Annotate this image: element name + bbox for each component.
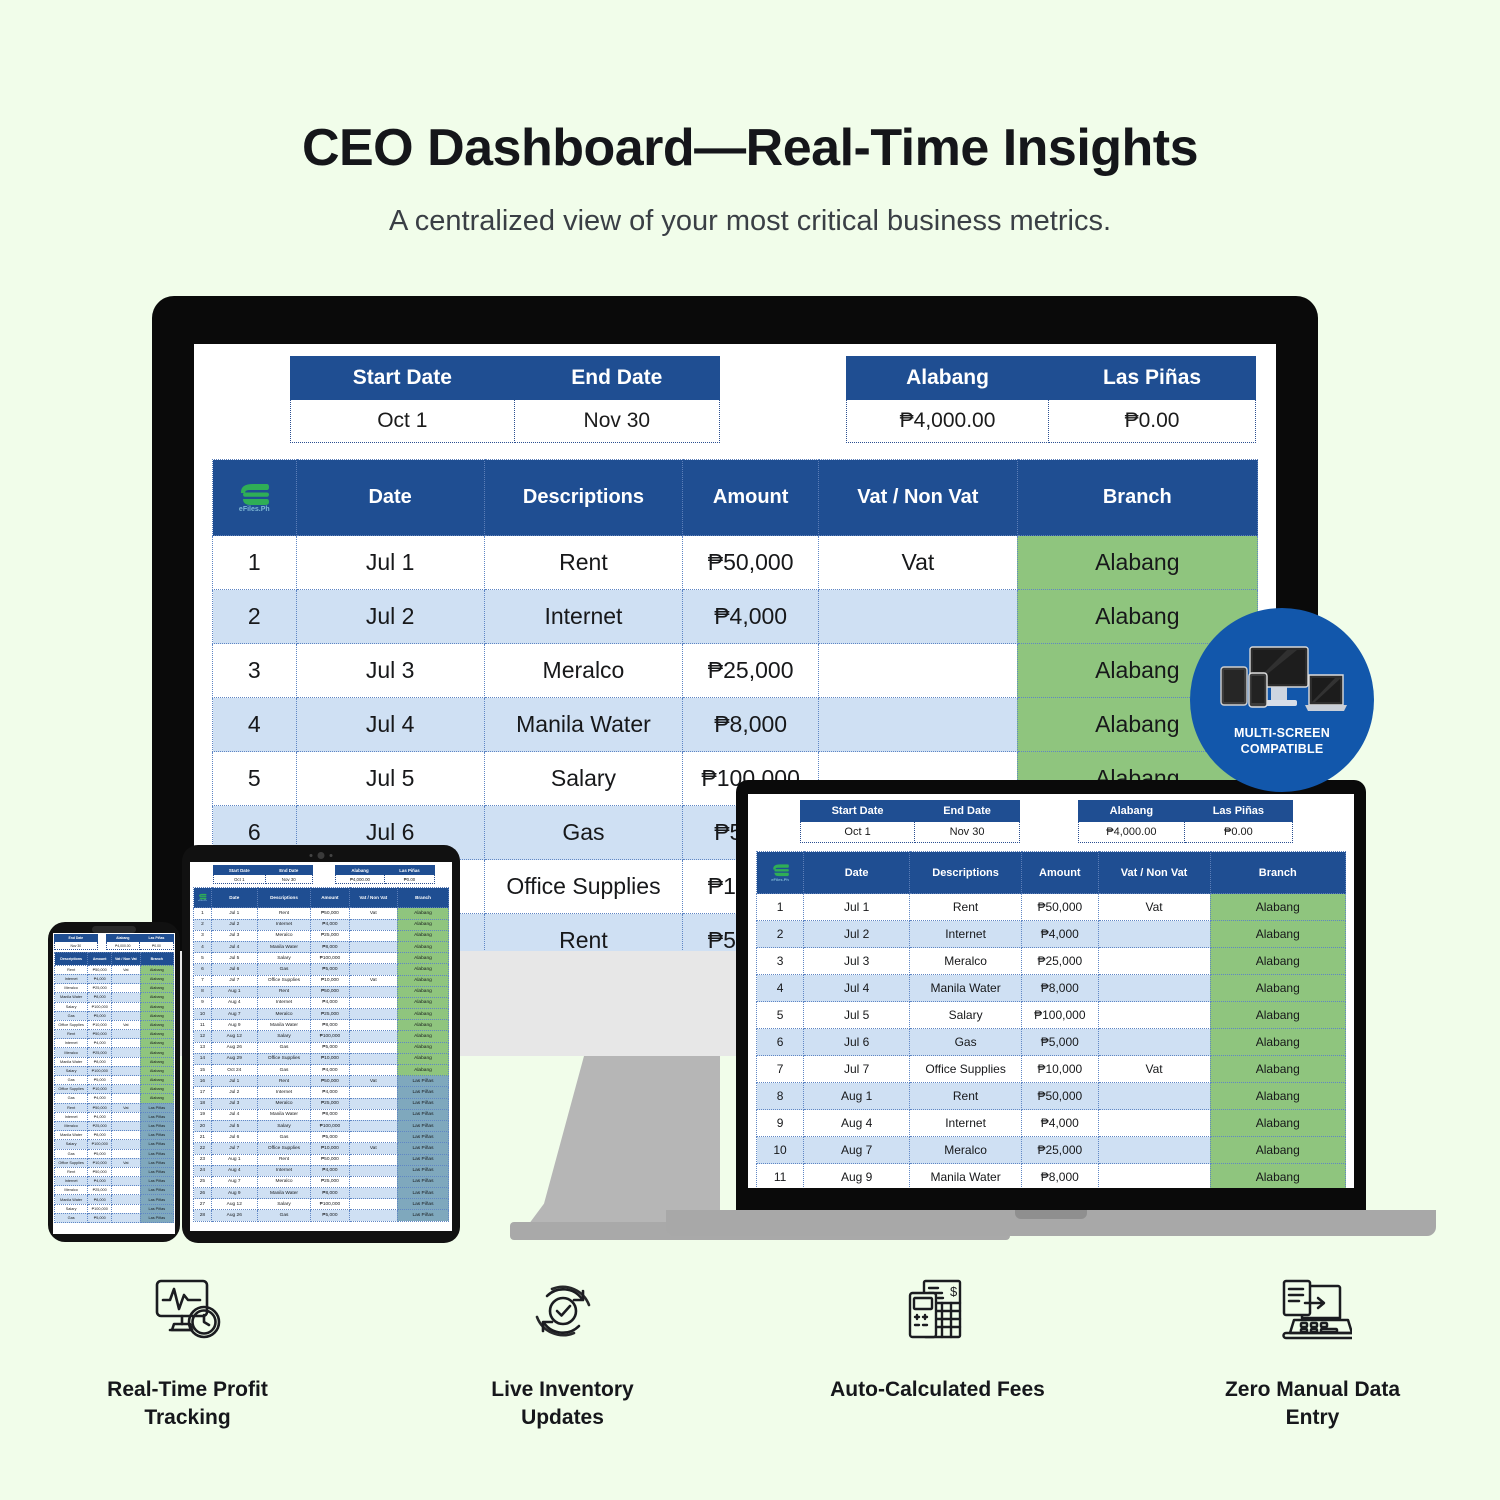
table-row[interactable]: 1Jul 1Rent₱50,000VatAlabang [213,536,1258,590]
cell-desc[interactable]: Meralco [55,1186,88,1195]
laptop-col-descriptions[interactable]: Descriptions [910,852,1022,894]
cell-desc[interactable]: Salary [484,752,683,806]
cell-branch[interactable]: Alabang [397,975,448,986]
cell-branch[interactable]: Alabang [140,1057,173,1066]
cell-vat[interactable] [349,1109,397,1120]
cell-n[interactable]: 11 [194,1020,212,1031]
cell-n[interactable]: 16 [194,1076,212,1087]
table-row[interactable]: Gas₱5,000Las Piñas [55,1213,174,1222]
cell-amount[interactable]: ₱50,000 [311,986,349,997]
table-row[interactable]: Manila Water₱8,000Las Piñas [55,1131,174,1140]
cell-branch[interactable]: Las Piñas [140,1177,173,1186]
cell-desc[interactable]: Meralco [55,984,88,993]
cell-desc[interactable]: Salary [257,953,311,964]
cell-vat[interactable] [112,1057,141,1066]
cell-vat[interactable] [349,1009,397,1020]
cell-n[interactable]: 1 [194,908,212,919]
cell-n[interactable]: 3 [213,644,297,698]
cell-desc[interactable]: Meralco [484,644,683,698]
cell-date[interactable]: Aug 7 [211,1176,257,1187]
cell-branch[interactable]: Alabang [140,993,173,1002]
cell-amount[interactable]: ₱5,000 [311,1042,349,1053]
cell-vat[interactable] [112,1094,141,1103]
cell-vat[interactable] [349,941,397,952]
table-row[interactable]: 17Jul 2Internet₱4,000Las Piñas [194,1087,449,1098]
cell-branch[interactable]: Las Piñas [397,1132,448,1143]
cell-n[interactable]: 4 [194,941,212,952]
table-row[interactable]: 8Aug 1Rent₱50,000Alabang [194,986,449,997]
cell-desc[interactable]: Salary [55,1140,88,1149]
laspinas-total-value[interactable]: ₱0.00 [1049,400,1256,443]
table-row[interactable]: Internet₱4,000Las Piñas [55,1177,174,1186]
cell-branch[interactable]: Alabang [140,965,173,974]
table-row[interactable]: 27Aug 12Salary₱100,000Las Piñas [194,1199,449,1210]
cell-desc[interactable]: Office Supplies [55,1085,88,1094]
cell-amount[interactable]: ₱4,000 [88,974,112,983]
cell-vat[interactable] [349,1210,397,1221]
col-vat[interactable]: Vat / Non Vat [819,460,1018,536]
table-row[interactable]: Rent₱50,000VatAlabang [55,965,174,974]
table-row[interactable]: 24Aug 4Internet₱4,000Las Piñas [194,1165,449,1176]
cell-branch[interactable]: Alabang [397,997,448,1008]
cell-branch[interactable]: Alabang [1210,1002,1346,1029]
table-row[interactable]: Office Supplies₱10,000VatLas Piñas [55,1158,174,1167]
cell-amount[interactable]: ₱4,000 [88,1039,112,1048]
cell-vat[interactable] [112,1112,141,1121]
cell-branch[interactable]: Las Piñas [140,1121,173,1130]
cell-vat[interactable] [1098,975,1210,1002]
cell-desc[interactable]: Office Supplies [257,975,311,986]
cell-desc[interactable]: Rent [257,1154,311,1165]
cell-n[interactable]: 5 [757,1002,804,1029]
cell-amount[interactable]: ₱25,000 [1022,948,1099,975]
cell-n[interactable]: 23 [194,1154,212,1165]
cell-n[interactable]: 17 [194,1087,212,1098]
table-row[interactable]: Salary₱100,000Las Piñas [55,1140,174,1149]
cell-branch[interactable]: Alabang [397,1042,448,1053]
cell-amount[interactable]: ₱8,000 [88,1057,112,1066]
cell-date[interactable]: Aug 4 [211,1165,257,1176]
cell-n[interactable]: 26 [194,1188,212,1199]
cell-n[interactable]: 6 [757,1029,804,1056]
cell-desc[interactable]: Manila Water [484,698,683,752]
tablet-col-vat[interactable]: Vat / Non Vat [349,888,397,908]
cell-amount[interactable]: ₱4,000 [311,1165,349,1176]
cell-n[interactable]: 24 [194,1165,212,1176]
cell-desc[interactable]: Rent [55,1030,88,1039]
table-row[interactable]: 8Aug 1Rent₱50,000Alabang [757,1083,1346,1110]
cell-desc[interactable]: Salary [55,1066,88,1075]
cell-desc[interactable]: Meralco [910,1137,1022,1164]
phone-col-vat[interactable]: Vat / Non Vat [112,952,141,965]
cell-vat[interactable]: Vat [112,1158,141,1167]
cell-branch[interactable]: Las Piñas [140,1213,173,1222]
cell-amount[interactable]: ₱8,000 [1022,1164,1099,1189]
cell-amount[interactable]: ₱25,000 [683,644,819,698]
cell-date[interactable]: Aug 4 [211,997,257,1008]
cell-vat[interactable] [1098,1164,1210,1189]
cell-amount[interactable]: ₱25,000 [88,1048,112,1057]
cell-branch[interactable]: Las Piñas [397,1143,448,1154]
cell-amount[interactable]: ₱25,000 [311,1176,349,1187]
tablet-laspinas-total-value[interactable]: ₱0.00 [384,875,434,884]
cell-amount[interactable]: ₱100,000 [311,1199,349,1210]
cell-vat[interactable] [112,1121,141,1130]
cell-vat[interactable] [349,997,397,1008]
cell-date[interactable]: Jul 4 [804,975,910,1002]
table-row[interactable]: Internet₱4,000Las Piñas [55,1112,174,1121]
laptop-col-branch[interactable]: Branch [1210,852,1346,894]
cell-desc[interactable]: Rent [257,1076,311,1087]
cell-desc[interactable]: Office Supplies [257,1143,311,1154]
cell-desc[interactable]: Gas [257,1132,311,1143]
cell-amount[interactable]: ₱25,000 [88,1186,112,1195]
cell-vat[interactable] [1098,1083,1210,1110]
cell-amount[interactable]: ₱10,000 [311,1143,349,1154]
table-row[interactable]: Office Supplies₱10,000Alabang [55,1085,174,1094]
cell-branch[interactable]: Las Piñas [397,1199,448,1210]
cell-amount[interactable]: ₱4,000 [683,590,819,644]
cell-branch[interactable]: Las Piñas [397,1210,448,1221]
cell-date[interactable]: Jul 5 [211,953,257,964]
table-row[interactable]: Office Supplies₱10,000VatAlabang [55,1020,174,1029]
cell-date[interactable]: Jul 3 [296,644,484,698]
cell-amount[interactable]: ₱50,000 [1022,1083,1099,1110]
cell-amount[interactable]: ₱8,000 [311,941,349,952]
cell-vat[interactable] [349,1098,397,1109]
cell-date[interactable]: Jul 3 [804,948,910,975]
cell-vat[interactable] [112,1149,141,1158]
cell-n[interactable]: 6 [194,964,212,975]
cell-branch[interactable]: Alabang [1210,894,1346,921]
cell-vat[interactable] [349,1020,397,1031]
cell-desc[interactable]: Rent [55,1167,88,1176]
cell-date[interactable]: Jul 6 [211,1132,257,1143]
table-row[interactable]: 5Jul 5Salary₱100,000Alabang [194,953,449,964]
cell-n[interactable]: 28 [194,1210,212,1221]
cell-amount[interactable]: ₱4,000 [311,1065,349,1076]
cell-desc[interactable]: Office Supplies [55,1158,88,1167]
table-row[interactable]: Meralco₱25,000Las Piñas [55,1186,174,1195]
cell-amount[interactable]: ₱100,000 [88,1066,112,1075]
cell-branch[interactable]: Alabang [397,1031,448,1042]
cell-date[interactable]: Aug 4 [804,1110,910,1137]
cell-amount[interactable]: ₱8,000 [88,1195,112,1204]
cell-branch[interactable]: Alabang [1210,1110,1346,1137]
tablet-start-date-value[interactable]: Oct 1 [214,875,266,884]
cell-desc[interactable]: Internet [257,997,311,1008]
cell-vat[interactable] [112,1048,141,1057]
cell-branch[interactable]: Alabang [397,1053,448,1064]
table-row[interactable]: Gas₱5,000Alabang [55,1076,174,1085]
table-row[interactable]: 2Jul 2Internet₱4,000Alabang [213,590,1258,644]
cell-amount[interactable]: ₱4,000 [311,919,349,930]
cell-vat[interactable] [112,1177,141,1186]
cell-n[interactable]: 7 [757,1056,804,1083]
table-row[interactable]: Meralco₱25,000Las Piñas [55,1121,174,1130]
cell-desc[interactable]: Internet [257,1087,311,1098]
cell-desc[interactable]: Internet [257,1165,311,1176]
table-row[interactable]: 11Aug 9Manila Water₱8,000Alabang [194,1020,449,1031]
cell-desc[interactable]: Meralco [257,930,311,941]
tablet-col-amount[interactable]: Amount [311,888,349,908]
cell-desc[interactable]: Internet [55,1112,88,1121]
cell-vat[interactable] [349,1053,397,1064]
table-row[interactable]: Internet₱4,000Alabang [55,974,174,983]
table-row[interactable]: 4Jul 4Manila Water₱8,000Alabang [194,941,449,952]
cell-desc[interactable]: Meralco [55,1048,88,1057]
cell-vat[interactable] [112,984,141,993]
cell-amount[interactable]: ₱5,000 [88,1011,112,1020]
table-row[interactable]: 21Jul 6Gas₱5,000Las Piñas [194,1132,449,1143]
cell-vat[interactable] [1098,1137,1210,1164]
table-row[interactable]: 14Aug 29Office Supplies₱10,000Alabang [194,1053,449,1064]
cell-date[interactable]: Aug 9 [211,1020,257,1031]
col-branch[interactable]: Branch [1017,460,1257,536]
cell-vat[interactable] [349,953,397,964]
cell-branch[interactable]: Alabang [397,953,448,964]
cell-amount[interactable]: ₱8,000 [88,993,112,1002]
laptop-alabang-total-value[interactable]: ₱4,000.00 [1079,822,1185,843]
cell-vat[interactable] [1098,1110,1210,1137]
table-row[interactable]: Manila Water₱8,000Las Piñas [55,1195,174,1204]
cell-branch[interactable]: Las Piñas [140,1158,173,1167]
cell-vat[interactable] [349,1188,397,1199]
cell-amount[interactable]: ₱50,000 [311,1076,349,1087]
cell-date[interactable]: Jul 3 [211,1098,257,1109]
cell-vat[interactable] [1098,1029,1210,1056]
cell-vat[interactable] [112,1066,141,1075]
cell-date[interactable]: Oct 24 [211,1065,257,1076]
cell-vat[interactable] [112,1030,141,1039]
cell-branch[interactable]: Alabang [140,1094,173,1103]
cell-vat[interactable] [349,1065,397,1076]
cell-n[interactable]: 8 [757,1083,804,1110]
table-row[interactable]: 15Oct 24Gas₱4,000Alabang [194,1065,449,1076]
cell-vat[interactable] [349,1154,397,1165]
cell-date[interactable]: Aug 1 [804,1083,910,1110]
cell-branch[interactable]: Las Piñas [140,1204,173,1213]
cell-branch[interactable]: Las Piñas [140,1112,173,1121]
cell-n[interactable]: 9 [194,997,212,1008]
cell-amount[interactable]: ₱50,000 [683,536,819,590]
cell-branch[interactable]: Las Piñas [397,1098,448,1109]
cell-branch[interactable]: Alabang [140,1066,173,1075]
cell-amount[interactable]: ₱50,000 [88,1167,112,1176]
cell-desc[interactable]: Rent [257,986,311,997]
cell-n[interactable]: 9 [757,1110,804,1137]
cell-vat[interactable] [349,1120,397,1131]
cell-vat[interactable] [819,644,1018,698]
cell-desc[interactable]: Gas [910,1029,1022,1056]
cell-amount[interactable]: ₱100,000 [311,953,349,964]
cell-amount[interactable]: ₱10,000 [88,1085,112,1094]
cell-n[interactable]: 1 [213,536,297,590]
cell-amount[interactable]: ₱50,000 [311,1154,349,1165]
cell-vat[interactable] [819,590,1018,644]
cell-desc[interactable]: Office Supplies [910,1056,1022,1083]
cell-desc[interactable]: Manila Water [257,1109,311,1120]
cell-amount[interactable]: ₱25,000 [88,984,112,993]
cell-date[interactable]: Jul 2 [211,919,257,930]
cell-n[interactable]: 3 [757,948,804,975]
cell-desc[interactable]: Gas [55,1076,88,1085]
cell-amount[interactable]: ₱5,000 [88,1076,112,1085]
cell-amount[interactable]: ₱5,000 [311,964,349,975]
cell-vat[interactable] [112,1167,141,1176]
cell-vat[interactable] [349,1132,397,1143]
table-row[interactable]: Rent₱50,000Alabang [55,1030,174,1039]
cell-date[interactable]: Jul 5 [296,752,484,806]
alabang-total-value[interactable]: ₱4,000.00 [847,400,1049,443]
cell-date[interactable]: Jul 6 [804,1029,910,1056]
cell-vat[interactable] [349,1087,397,1098]
cell-branch[interactable]: Alabang [140,984,173,993]
cell-desc[interactable]: Gas [55,1094,88,1103]
cell-date[interactable]: Jul 4 [296,698,484,752]
cell-desc[interactable]: Rent [910,1083,1022,1110]
cell-amount[interactable]: ₱8,000 [311,1109,349,1120]
cell-date[interactable]: Jul 4 [211,1109,257,1120]
cell-vat[interactable] [112,1204,141,1213]
cell-date[interactable]: Aug 12 [211,1199,257,1210]
cell-amount[interactable]: ₱100,000 [311,1120,349,1131]
cell-desc[interactable]: Manila Water [910,1164,1022,1189]
cell-vat[interactable]: Vat [349,908,397,919]
cell-branch[interactable]: Alabang [140,1048,173,1057]
cell-date[interactable]: Aug 1 [211,986,257,997]
cell-desc[interactable]: Gas [55,1011,88,1020]
phone-laspinas-total-value[interactable]: ₱0.00 [139,942,173,949]
cell-date[interactable]: Aug 7 [804,1137,910,1164]
cell-amount[interactable]: ₱25,000 [1022,1137,1099,1164]
table-row[interactable]: 28Aug 26Gas₱5,000Las Piñas [194,1210,449,1221]
cell-date[interactable]: Jul 2 [296,590,484,644]
cell-amount[interactable]: ₱25,000 [311,1009,349,1020]
table-row[interactable]: Salary₱100,000Alabang [55,1002,174,1011]
table-row[interactable]: Rent₱50,000Las Piñas [55,1167,174,1176]
cell-date[interactable]: Jul 1 [211,908,257,919]
cell-n[interactable]: 5 [213,752,297,806]
cell-amount[interactable]: ₱25,000 [311,1098,349,1109]
cell-branch[interactable]: Alabang [397,930,448,941]
cell-n[interactable]: 25 [194,1176,212,1187]
phone-col-descriptions[interactable]: Descriptions [55,952,88,965]
cell-n[interactable]: 7 [194,975,212,986]
cell-date[interactable]: Aug 26 [211,1210,257,1221]
cell-amount[interactable]: ₱50,000 [88,1103,112,1112]
cell-date[interactable]: Aug 26 [211,1042,257,1053]
cell-amount[interactable]: ₱10,000 [311,1053,349,1064]
cell-amount[interactable]: ₱50,000 [1022,894,1099,921]
tablet-col-descriptions[interactable]: Descriptions [257,888,311,908]
cell-n[interactable]: 2 [194,919,212,930]
cell-desc[interactable]: Gas [257,1210,311,1221]
cell-date[interactable]: Jul 2 [211,1087,257,1098]
laptop-col-vat[interactable]: Vat / Non Vat [1098,852,1210,894]
cell-n[interactable]: 15 [194,1065,212,1076]
table-row[interactable]: 9Aug 4Internet₱4,000Alabang [757,1110,1346,1137]
cell-desc[interactable]: Rent [910,894,1022,921]
tablet-col-date[interactable]: Date [211,888,257,908]
cell-amount[interactable]: ₱25,000 [88,1121,112,1130]
cell-n[interactable]: 21 [194,1132,212,1143]
cell-branch[interactable]: Alabang [140,1030,173,1039]
cell-branch[interactable]: Alabang [1210,1029,1346,1056]
cell-vat[interactable]: Vat [1098,1056,1210,1083]
cell-branch[interactable]: Las Piñas [397,1165,448,1176]
cell-desc[interactable]: Meralco [257,1098,311,1109]
cell-amount[interactable]: ₱100,000 [88,1140,112,1149]
cell-date[interactable]: Jul 1 [296,536,484,590]
cell-branch[interactable]: Alabang [140,1039,173,1048]
table-row[interactable]: 20Jul 5Salary₱100,000Las Piñas [194,1120,449,1131]
cell-branch[interactable]: Alabang [140,1002,173,1011]
table-row[interactable]: 1Jul 1Rent₱50,000VatAlabang [194,908,449,919]
cell-branch[interactable]: Alabang [397,1065,448,1076]
cell-n[interactable]: 13 [194,1042,212,1053]
cell-n[interactable]: 22 [194,1143,212,1154]
cell-branch[interactable]: Alabang [140,1020,173,1029]
end-date-value[interactable]: Nov 30 [514,400,719,443]
cell-branch[interactable]: Las Piñas [397,1087,448,1098]
cell-branch[interactable]: Las Piñas [397,1176,448,1187]
cell-desc[interactable]: Internet [910,1110,1022,1137]
cell-date[interactable]: Jul 6 [211,964,257,975]
cell-vat[interactable] [112,1186,141,1195]
cell-date[interactable]: Jul 1 [211,1076,257,1087]
cell-desc[interactable]: Manila Water [55,1195,88,1204]
cell-branch[interactable]: Alabang [1210,921,1346,948]
cell-desc[interactable]: Salary [910,1002,1022,1029]
table-row[interactable]: Salary₱100,000Las Piñas [55,1204,174,1213]
table-row[interactable]: 10Aug 7Meralco₱25,000Alabang [757,1137,1346,1164]
cell-amount[interactable]: ₱5,000 [311,1132,349,1143]
cell-desc[interactable]: Rent [484,914,683,952]
cell-desc[interactable]: Gas [257,1042,311,1053]
cell-desc[interactable]: Internet [55,974,88,983]
cell-vat[interactable] [819,698,1018,752]
cell-amount[interactable]: ₱50,000 [88,965,112,974]
cell-amount[interactable]: ₱100,000 [1022,1002,1099,1029]
cell-date[interactable]: Jul 7 [211,975,257,986]
table-row[interactable]: 10Aug 7Meralco₱25,000Alabang [194,1009,449,1020]
tablet-end-date-value[interactable]: Nov 30 [265,875,312,884]
cell-desc[interactable]: Manila Water [910,975,1022,1002]
cell-vat[interactable] [349,919,397,930]
col-descriptions[interactable]: Descriptions [484,460,683,536]
table-row[interactable]: 9Aug 4Internet₱4,000Alabang [194,997,449,1008]
cell-amount[interactable]: ₱10,000 [88,1020,112,1029]
cell-desc[interactable]: Salary [257,1199,311,1210]
cell-vat[interactable]: Vat [349,1076,397,1087]
cell-date[interactable]: Aug 9 [804,1164,910,1189]
cell-branch[interactable]: Alabang [1017,536,1257,590]
cell-desc[interactable]: Manila Water [55,1057,88,1066]
cell-n[interactable]: 4 [213,698,297,752]
cell-vat[interactable] [112,1039,141,1048]
cell-amount[interactable]: ₱100,000 [88,1204,112,1213]
cell-branch[interactable]: Las Piñas [397,1188,448,1199]
cell-branch[interactable]: Las Piñas [140,1131,173,1140]
cell-vat[interactable] [112,993,141,1002]
cell-date[interactable]: Aug 1 [211,1154,257,1165]
cell-n[interactable]: 2 [213,590,297,644]
cell-amount[interactable]: ₱5,000 [88,1213,112,1222]
cell-amount[interactable]: ₱5,000 [311,1210,349,1221]
cell-amount[interactable]: ₱5,000 [1022,1029,1099,1056]
cell-n[interactable]: 4 [757,975,804,1002]
